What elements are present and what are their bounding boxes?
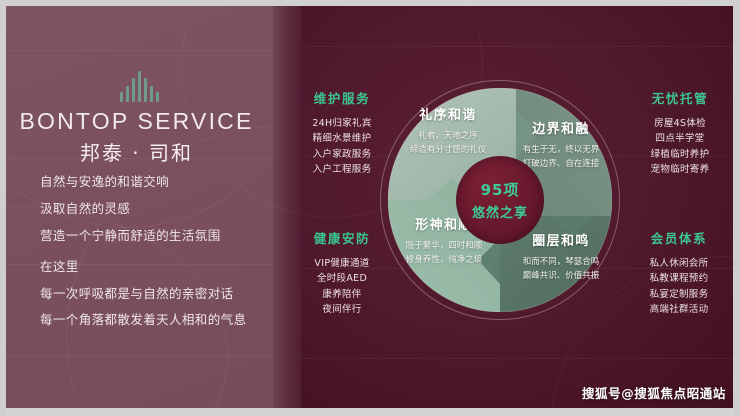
- service-title: 健康安防: [296, 228, 388, 247]
- decorative-line: [6, 356, 273, 357]
- intro-line: 汲取自然的灵感: [40, 201, 260, 218]
- quadrant-title: 边界和融: [496, 118, 626, 137]
- service-item: 四点半学堂: [630, 131, 730, 146]
- service-item: 宠物临时寄养: [630, 162, 730, 177]
- service-block-maintenance[interactable]: 维护服务 24H归家礼宾 精细水景维护 入户家政服务 入户工程服务: [296, 88, 388, 178]
- intro-line: 在这里: [40, 259, 260, 276]
- service-title: 维护服务: [296, 88, 388, 107]
- quadrant-line: 和而不同，琴瑟合鸣: [494, 255, 628, 269]
- center-count: 95项: [481, 179, 520, 200]
- intro-line: 每一次呼吸都是与自然的亲密对话: [40, 286, 260, 303]
- page-title-en: BONTOP SERVICE: [0, 108, 273, 135]
- intro-paragraph: 自然与安逸的和谐交响 汲取自然的灵感 营造一个宁静而舒适的生活氛围 在这里 每一…: [40, 174, 260, 339]
- pinwheel-diagram: 礼序和谐 礼者，天地之序 缔造有分寸感的礼仪 边界和融 有生于无，终以无界 打破…: [378, 78, 622, 322]
- service-item: 康养陪伴: [296, 287, 388, 302]
- service-item: 入户家政服务: [296, 147, 388, 162]
- slide-canvas: BONTOP SERVICE 邦泰 · 司和 自然与安逸的和谐交响 汲取自然的灵…: [0, 0, 740, 416]
- quadrant-line: 有生于无，终以无界: [496, 143, 626, 157]
- watermark: 搜狐号@搜狐焦点昭通站: [582, 383, 726, 402]
- intro-line: 营造一个宁静而舒适的生活氛围: [40, 228, 260, 245]
- service-item: 24H归家礼宾: [296, 116, 388, 131]
- intro-line: 自然与安逸的和谐交响: [40, 174, 260, 191]
- service-block-health-security[interactable]: 健康安防 VIP健康通道 全时段AED 康养陪伴 夜间伴行: [296, 228, 388, 318]
- quadrant-line: 礼者，天地之序: [388, 129, 508, 143]
- service-item: 高端社群活动: [628, 302, 730, 317]
- service-item: VIP健康通道: [296, 256, 388, 271]
- service-title: 无忧托管: [630, 88, 730, 107]
- service-item: 入户工程服务: [296, 162, 388, 177]
- service-item: 夜间伴行: [296, 302, 388, 317]
- quadrant-title: 礼序和谐: [388, 104, 508, 123]
- sound-bars-icon: [118, 68, 160, 102]
- quadrant-line: 巅峰共识、价值共振: [494, 269, 628, 283]
- decorative-line: [301, 358, 733, 359]
- service-item: 精细水景维护: [296, 131, 388, 146]
- service-item: 绿植临时养护: [630, 147, 730, 162]
- service-item: 房屋4S体检: [630, 116, 730, 131]
- center-label: 悠然之享: [472, 202, 528, 221]
- service-title: 会员体系: [628, 228, 730, 247]
- center-highlight[interactable]: 95项 悠然之享: [456, 156, 544, 244]
- service-block-worry-free-trust[interactable]: 无忧托管 房屋4S体检 四点半学堂 绿植临时养护 宠物临时寄养: [630, 88, 730, 178]
- quadrant-line: 缔造有分寸感的礼仪: [388, 143, 508, 157]
- quadrant-line: 修身养性，纯净之境: [382, 253, 506, 267]
- service-item: 私宴定制服务: [628, 287, 730, 302]
- quadrant-top-left[interactable]: 礼序和谐 礼者，天地之序 缔造有分寸感的礼仪: [388, 104, 508, 157]
- intro-line: 每一个角落都散发着天人相和的气息: [40, 312, 260, 329]
- service-item: 私人休闲会所: [628, 256, 730, 271]
- service-item: 私教课程预约: [628, 271, 730, 286]
- service-item: 全时段AED: [296, 271, 388, 286]
- decorative-line: [301, 46, 733, 47]
- page-title-cn: 邦泰 · 司和: [0, 137, 273, 166]
- service-block-membership[interactable]: 会员体系 私人休闲会所 私教课程预约 私宴定制服务 高端社群活动: [628, 228, 730, 318]
